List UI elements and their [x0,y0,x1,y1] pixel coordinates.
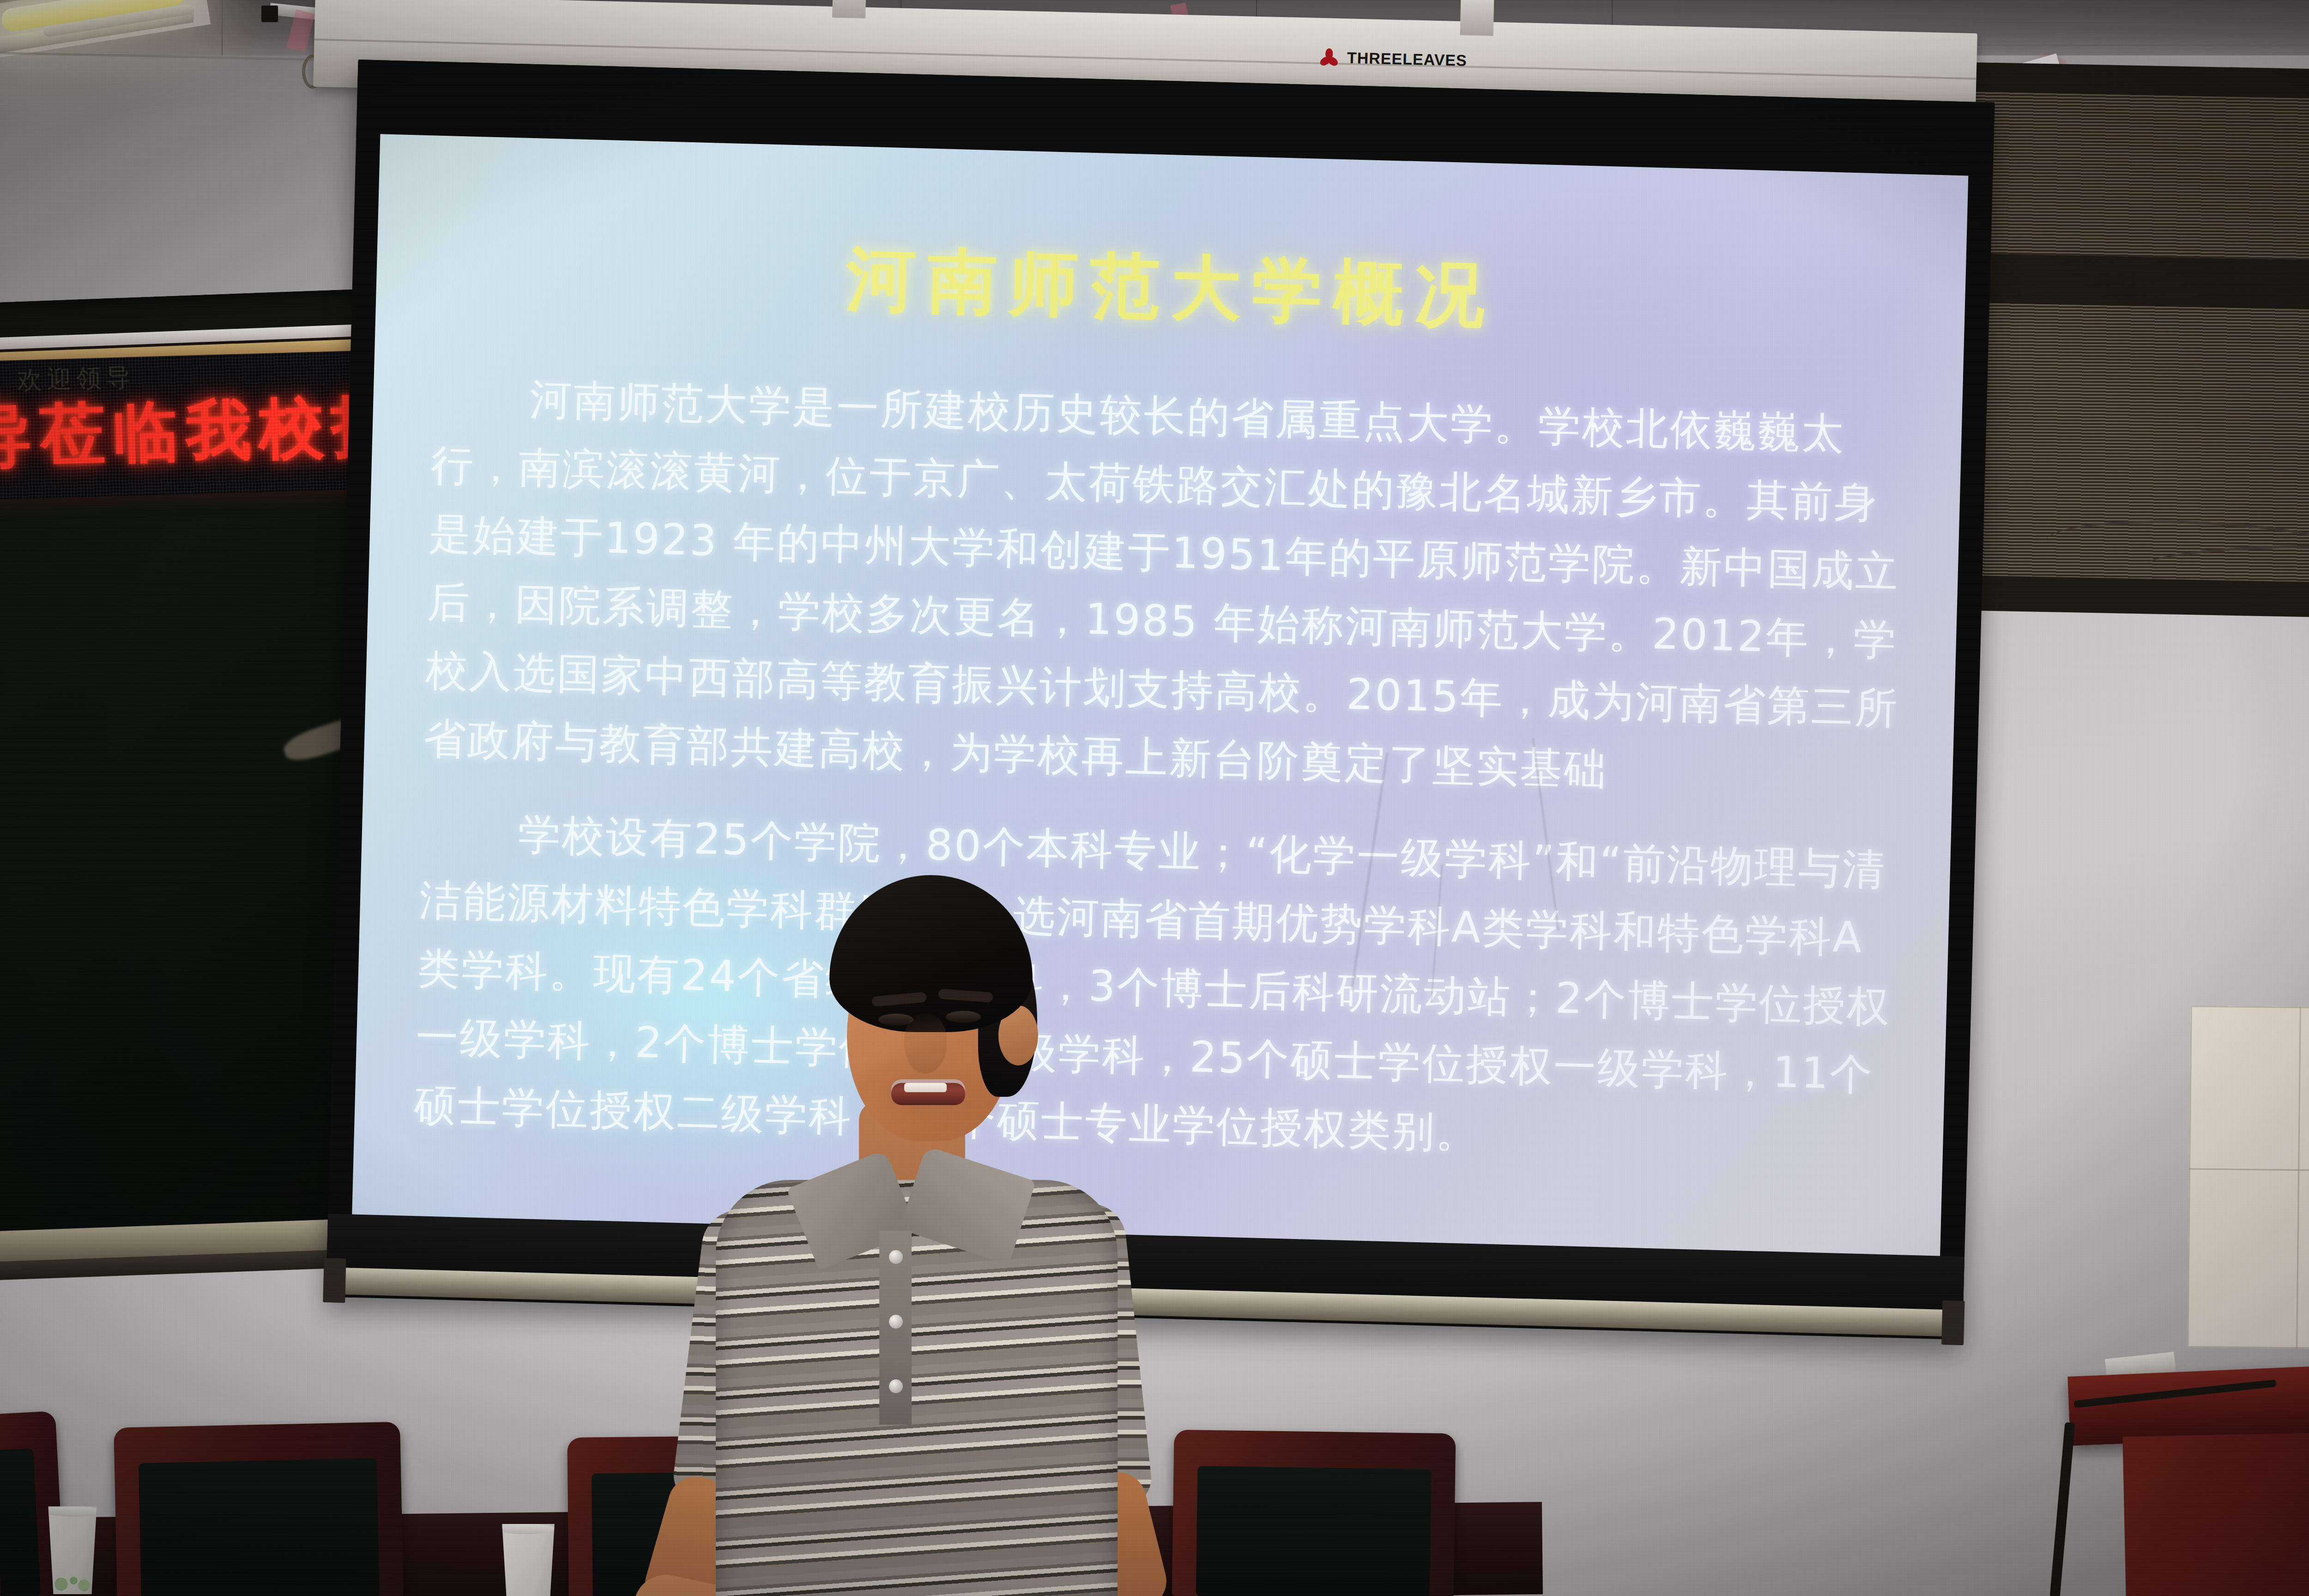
mouth [891,1079,965,1105]
hair [829,875,1033,1032]
photograph-scene: 欢迎领导 导莅临我校指导工 THREELEAVES 河南师范大学概况 [0,0,2309,1596]
striped-polo-shirt [716,1180,1118,1596]
nose [904,1014,947,1074]
projector-screen-brand: THREELEAVES [1318,46,1468,71]
wall-seam [1977,44,2309,46]
eye [946,1011,981,1023]
brand-label: THREELEAVES [1347,48,1468,69]
podium-cable [2049,1422,2075,1596]
shirt-button [889,1379,903,1393]
led-dot-matrix [0,350,390,500]
screen-bar-tip [323,1258,346,1303]
podium-body [2122,1431,2309,1596]
three-leaf-logo-icon [1318,46,1340,68]
chair [114,1422,404,1596]
presenter [660,861,1205,1596]
shirt-button [889,1315,903,1329]
screen-bar-tip [1941,1300,1964,1345]
wall-tile-panel [2187,1006,2309,1350]
bracket-end-cap [261,6,278,22]
paper-cup [44,1506,101,1594]
head [822,875,1039,1152]
led-scrolling-sign: 欢迎领导 导莅临我校指导工 [0,350,390,500]
chair [1172,1430,1456,1596]
paper-cup [498,1524,559,1596]
shirt-button [889,1250,903,1264]
